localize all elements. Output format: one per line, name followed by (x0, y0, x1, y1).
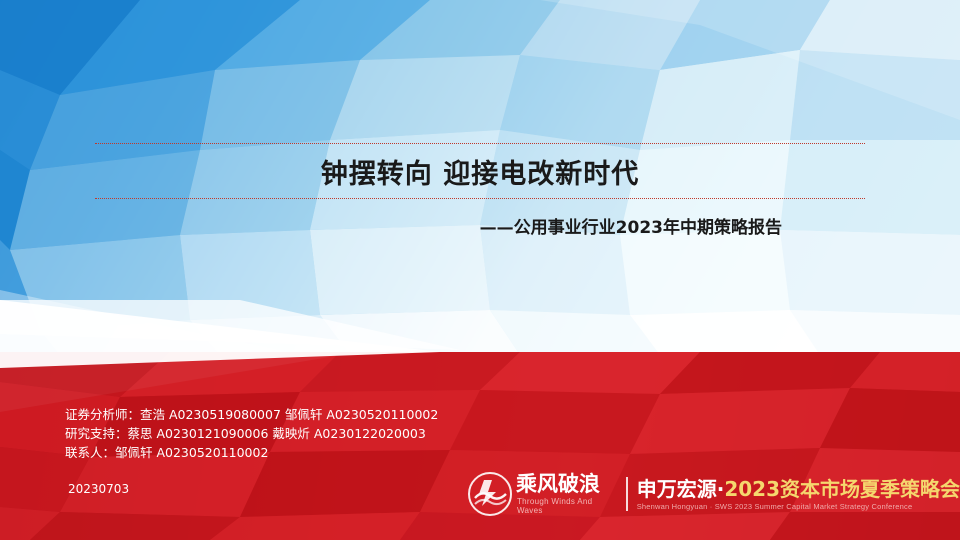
white-wedge-art (0, 300, 960, 390)
white-wedge (0, 300, 960, 390)
slide-root: 钟摆转向 迎接电改新时代 ——公用事业行业2023年中期策略报告 证券分析师：查… (0, 0, 960, 540)
analyst-info: 证券分析师：查浩 A0230519080007 邹佩轩 A02305201100… (65, 405, 438, 462)
slogan-en: Through Winds And Waves (517, 497, 617, 515)
brand-en: Shenwan Hongyuan · SWS 2023 Summer Capit… (637, 502, 960, 511)
slogan-block: 乘风破浪 Through Winds And Waves (512, 473, 617, 515)
page-title: 钟摆转向 迎接电改新时代 (0, 152, 960, 191)
brand-cn: 申万宏源·2023资本市场夏季策略会 (637, 478, 960, 500)
analyst-line-3: 联系人：邹佩轩 A0230520110002 (65, 443, 438, 462)
wave-emblem-icon (468, 472, 512, 516)
analyst-line-1: 证券分析师：查浩 A0230519080007 邹佩轩 A02305201100… (65, 405, 438, 424)
brand-cn-event: 资本市场夏季策略会 (780, 477, 960, 501)
logo-divider (626, 477, 628, 511)
slogan-cn: 乘风破浪 (516, 473, 617, 495)
page-subtitle: ——公用事业行业2023年中期策略报告 (0, 213, 960, 238)
brand-cn-year: 2023 (724, 477, 780, 501)
analyst-line-2: 研究支持：蔡思 A0230121090006 戴映炘 A023012202000… (65, 424, 438, 443)
brand-block: 申万宏源·2023资本市场夏季策略会 Shenwan Hongyuan · SW… (637, 478, 960, 511)
title-rule-top (95, 143, 865, 144)
conference-logo: 乘风破浪 Through Winds And Waves 申万宏源·2023资本… (468, 468, 960, 520)
title-rule-bottom (95, 198, 865, 199)
brand-cn-company: 申万宏源 (637, 477, 717, 501)
report-date: 20230703 (68, 482, 129, 496)
